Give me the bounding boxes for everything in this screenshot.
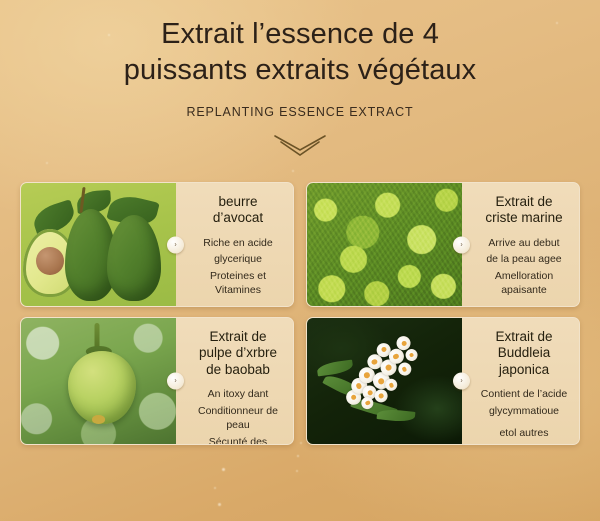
- card-line: etol autres: [481, 426, 567, 440]
- sparkle-particle: [297, 455, 299, 457]
- sparkle-particle: [46, 162, 48, 164]
- card-badge-icon[interactable]: ›: [167, 236, 184, 253]
- buddleia-text-panel: Extrait de Buddleia japonica Contient de…: [462, 318, 579, 444]
- ingredient-card-baobab[interactable]: Extrait de pulpe d’xrbre de baobab An it…: [20, 317, 294, 445]
- card-title-line-1: Extrait de: [495, 194, 552, 209]
- ingredient-card-buddleia[interactable]: Extrait de Buddleia japonica Contient de…: [306, 317, 580, 445]
- card-line: de la peau agee: [478, 252, 570, 266]
- card-line: An itoxy dant: [192, 387, 284, 401]
- card-line: Arrive au debut: [478, 236, 570, 250]
- card-line: Amelloration apaisante: [478, 269, 570, 298]
- card-title-line-2: criste marine: [485, 210, 562, 225]
- card-badge-icon[interactable]: ›: [453, 373, 470, 390]
- card-badge-icon[interactable]: ›: [167, 373, 184, 390]
- double-chevron-down-icon: [271, 133, 329, 159]
- ingredient-card-avocado[interactable]: beurre d’avocat Riche en acide glyceriqu…: [20, 182, 294, 307]
- card-line: ingredidents: [481, 443, 567, 445]
- sea-fennel-photo: [307, 183, 462, 306]
- card-description: Contient de l’acide glycymmatioue etol a…: [481, 387, 567, 445]
- sparkle-particle: [222, 468, 225, 471]
- ingredient-card-criste-marine[interactable]: Extrait de criste marine Arrive au debut…: [306, 182, 580, 307]
- card-title-line-2: pulpe d’xrbre: [199, 345, 277, 360]
- ingredient-card-grid: beurre d’avocat Riche en acide glyceriqu…: [20, 182, 580, 445]
- page-subtitle: REPLANTING ESSENCE EXTRACT: [0, 105, 600, 119]
- card-title-line-3: de baobab: [206, 362, 270, 377]
- card-title: Extrait de Buddleia japonica: [478, 329, 570, 378]
- sparkle-particle: [218, 503, 221, 506]
- buddleia-flower-photo: [307, 318, 462, 444]
- sparkle-particle: [292, 170, 294, 172]
- card-line: Contient de l’acide: [481, 387, 567, 401]
- card-line: Sécunté des ingredients: [192, 435, 284, 445]
- card-description: An itoxy dant Conditionneur de peau Sécu…: [192, 387, 284, 445]
- card-title-line-1: Extrait de: [495, 329, 552, 344]
- card-line: Proteines et Vitamines: [192, 269, 284, 298]
- page-title-line-1: Extrait l’essence de 4: [0, 16, 600, 52]
- sparkle-particle: [214, 487, 216, 489]
- flower-cluster: [328, 323, 444, 427]
- card-line: Conditionneur de peau: [192, 404, 284, 433]
- avocado-photo: [21, 183, 176, 306]
- page-title-line-2: puissants extraits végétaux: [0, 52, 600, 88]
- card-title: beurre d’avocat: [192, 194, 284, 227]
- card-line: glycymmatioue: [481, 404, 567, 418]
- card-line: Riche en acide: [192, 236, 284, 250]
- page-header: Extrait l’essence de 4 puissants extrait…: [0, 0, 600, 159]
- chevron-down-container: [0, 133, 600, 159]
- avocado-text-panel: beurre d’avocat Riche en acide glyceriqu…: [176, 183, 293, 306]
- baobab-text-panel: Extrait de pulpe d’xrbre de baobab An it…: [176, 318, 293, 444]
- card-title-line-2: Buddleia japonica: [498, 345, 551, 376]
- criste-marine-text-panel: Extrait de criste marine Arrive au debut…: [462, 183, 579, 306]
- baobab-fruit-photo: [21, 318, 176, 444]
- card-title: Extrait de pulpe d’xrbre de baobab: [199, 329, 277, 378]
- card-title-line-1: Extrait de: [209, 329, 266, 344]
- sparkle-particle: [296, 470, 298, 472]
- card-description: Arrive au debut de la peau agee Amellora…: [478, 236, 570, 298]
- card-line: glycerique: [192, 252, 284, 266]
- card-title: Extrait de criste marine: [485, 194, 562, 227]
- card-badge-icon[interactable]: ›: [453, 236, 470, 253]
- page-title: Extrait l’essence de 4 puissants extrait…: [0, 16, 600, 89]
- card-description: Riche en acide glycerique Proteines et V…: [192, 236, 284, 298]
